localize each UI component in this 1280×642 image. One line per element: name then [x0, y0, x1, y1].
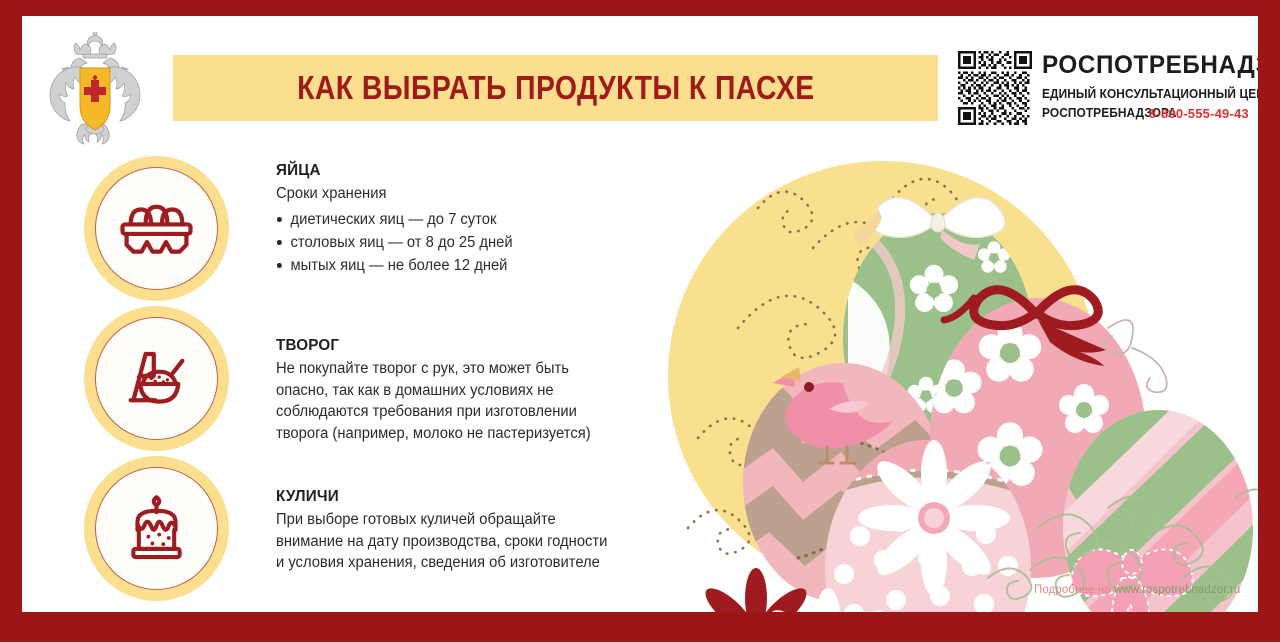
- cottage-cheese-bowl-icon: [113, 335, 200, 422]
- title-banner: КАК ВЫБРАТЬ ПРОДУКТЫ К ПАСХЕ: [173, 55, 938, 121]
- hotline-phone-number[interactable]: 8-800-555-49-43: [1149, 106, 1249, 121]
- section-heading: КУЛИЧИ: [276, 488, 609, 506]
- brand-block: РОСПОТРЕБНАДЗОР ЕДИНЫЙ КОНСУЛЬТАЦИОННЫЙ …: [958, 45, 1248, 145]
- easter-eggs-bird-flowers-illustration: [638, 138, 1258, 612]
- cottage-cheese-icon-badge: [84, 306, 229, 451]
- poster-background: КАК ВЫБРАТЬ ПРОДУКТЫ К ПАСХЕ: [0, 0, 1280, 642]
- russian-federation-double-headed-eagle-emblem: [40, 32, 150, 152]
- section-eggs: ЯЙЦА Сроки хранения диетических яиц — до…: [276, 162, 626, 277]
- section-cottage-cheese: ТВОРОГ Не покупайте творог с рук, это мо…: [276, 337, 626, 444]
- section-intro: Сроки хранения: [276, 183, 614, 205]
- brand-subtitle-line1: ЕДИНЫЙ КОНСУЛЬТАЦИОННЫЙ ЦЕНТР: [1042, 87, 1258, 101]
- section-heading: ЯЙЦА: [276, 162, 609, 180]
- icon-column: [84, 156, 244, 606]
- qr-code[interactable]: [958, 51, 1032, 125]
- footer-note: Подробнее на www.rospotrebnadzor.ru: [1034, 584, 1240, 596]
- section-heading: ТВОРОГ: [276, 337, 609, 355]
- list-item: столовых яиц — от 8 до 25 дней: [276, 231, 614, 254]
- list-item: мытых яиц — не более 12 дней: [276, 254, 614, 277]
- egg-carton-icon-badge: [84, 156, 229, 301]
- list-item: диетических яиц — до 7 суток: [276, 208, 614, 231]
- section-bullet-list: диетических яиц — до 7 суток столовых яи…: [276, 208, 626, 277]
- brand-name: РОСПОТРЕБНАДЗОР: [1042, 51, 1258, 80]
- section-body: Не покупайте творог с рук, это может быт…: [276, 358, 614, 444]
- footer-prefix: Подробнее на: [1034, 584, 1114, 596]
- footer-url[interactable]: www.rospotrebnadzor.ru: [1114, 584, 1240, 596]
- easter-cake-icon-badge: [84, 456, 229, 601]
- white-daisy: [858, 440, 1010, 596]
- section-easter-cakes: КУЛИЧИ При выборе готовых куличей обраща…: [276, 488, 626, 574]
- easter-cake-icon: [113, 485, 200, 572]
- section-body: При выборе готовых куличей обращайте вни…: [276, 509, 614, 574]
- egg-carton-icon: [113, 185, 200, 272]
- poster-card: КАК ВЫБРАТЬ ПРОДУКТЫ К ПАСХЕ: [22, 16, 1258, 612]
- page-title: КАК ВЫБРАТЬ ПРОДУКТЫ К ПАСХЕ: [297, 69, 814, 107]
